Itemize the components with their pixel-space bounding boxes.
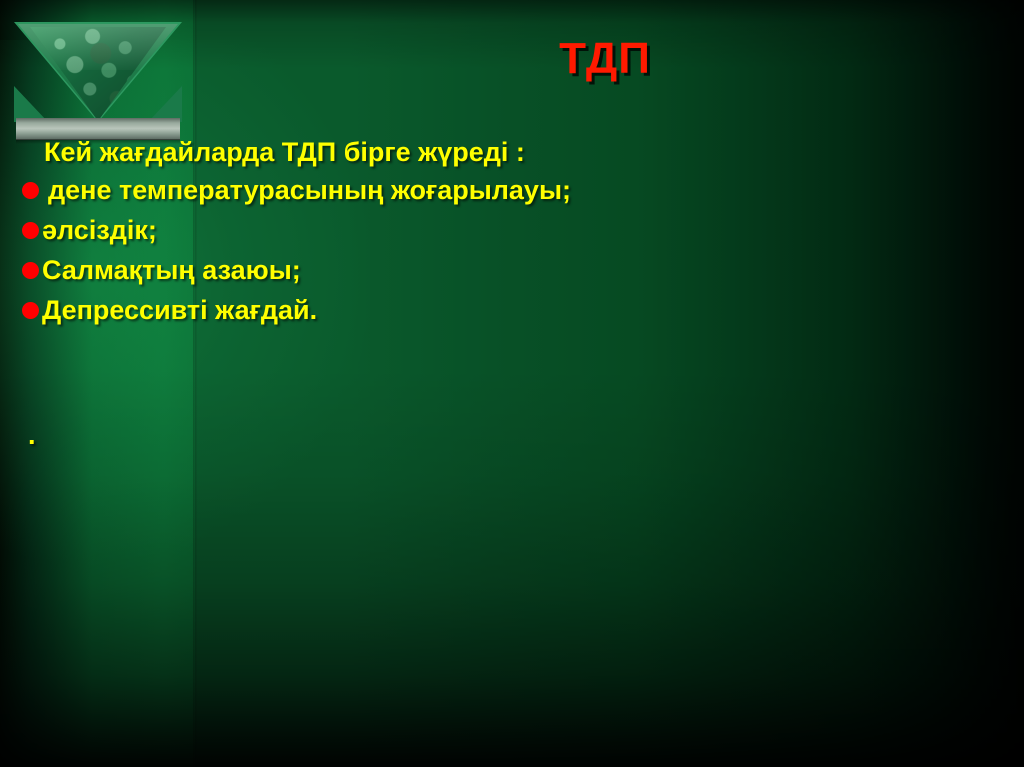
bullet-dot-icon	[22, 182, 39, 199]
list-item: Салмақтың азаюы;	[22, 257, 982, 284]
bullet-dot-icon	[22, 302, 39, 319]
list-item: Депрессивті жағдай.	[22, 297, 982, 324]
presentation-slide: ТДП Кей жағдайларда ТДП бірге жүреді : д…	[0, 0, 1024, 767]
list-item: дене температурасының жоғарылауы;	[22, 177, 982, 204]
list-item-label: дене температурасының жоғарылауы;	[48, 177, 571, 204]
list-item: әлсіздік;	[22, 217, 982, 244]
bullet-dot-icon	[22, 262, 39, 279]
list-item-label: Депрессивті жағдай.	[42, 297, 317, 324]
bullet-dot-icon	[22, 222, 39, 239]
slide-title: ТДП	[200, 34, 1010, 84]
list-item-label: Салмақтың азаюы;	[42, 257, 301, 284]
inverted-pyramid-emblem-icon	[14, 22, 182, 138]
lead-paragraph: Кей жағдайларда ТДП бірге жүреді :	[22, 139, 982, 166]
list-item-label: әлсіздік;	[42, 217, 157, 244]
trailing-period: .	[28, 420, 36, 451]
slide-body: Кей жағдайларда ТДП бірге жүреді : дене …	[22, 139, 982, 337]
bullet-list: дене температурасының жоғарылауы; әлсізд…	[22, 177, 982, 324]
